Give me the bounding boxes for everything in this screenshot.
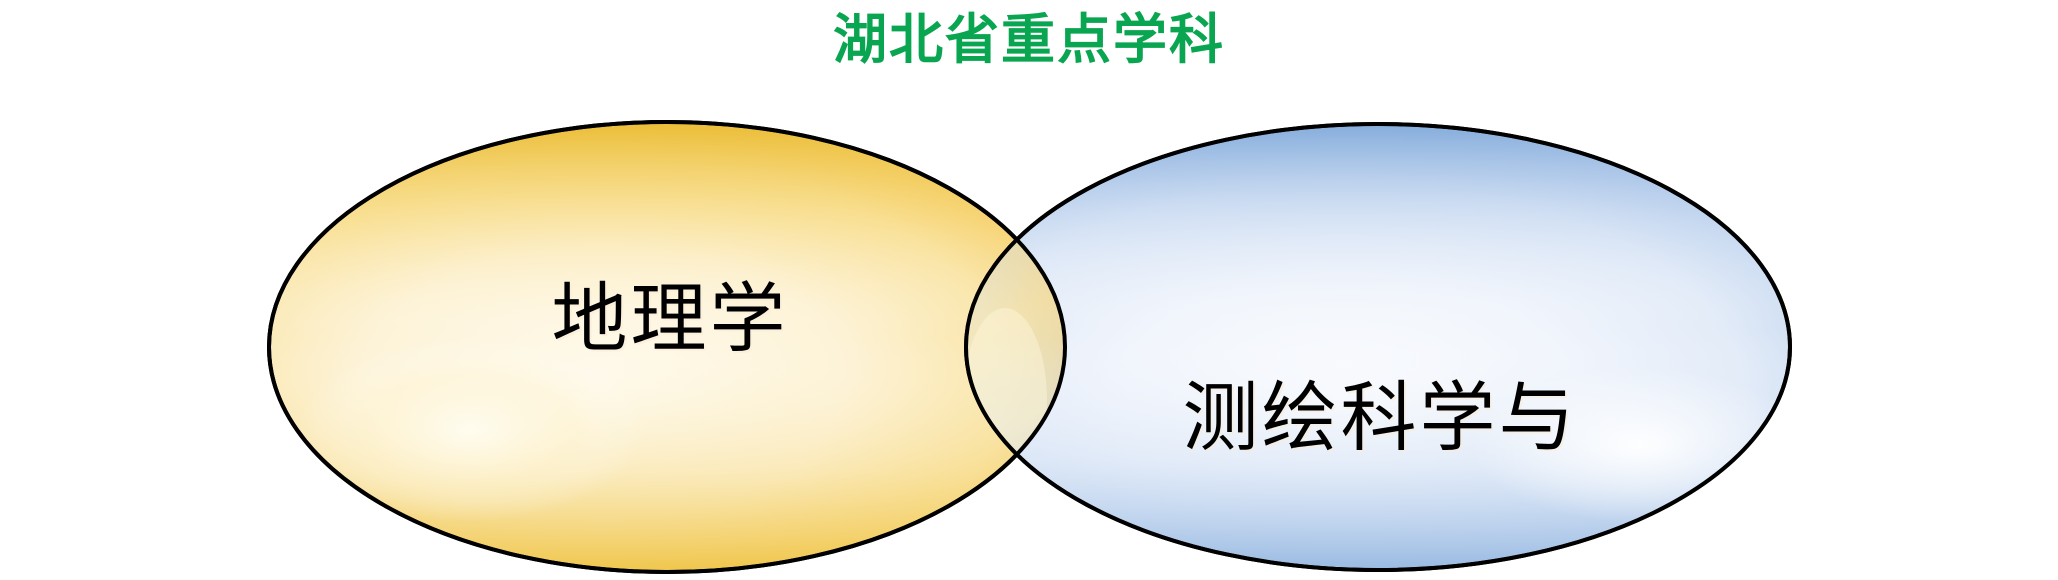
venn-diagram	[0, 0, 2058, 580]
right-ellipse-highlight	[1470, 367, 1810, 523]
left-ellipse-highlight	[295, 338, 645, 522]
venn-set-right[interactable]	[966, 124, 1810, 570]
slide-canvas: 湖北省重点学科	[0, 0, 2058, 580]
venn-set-left[interactable]	[269, 122, 1065, 572]
